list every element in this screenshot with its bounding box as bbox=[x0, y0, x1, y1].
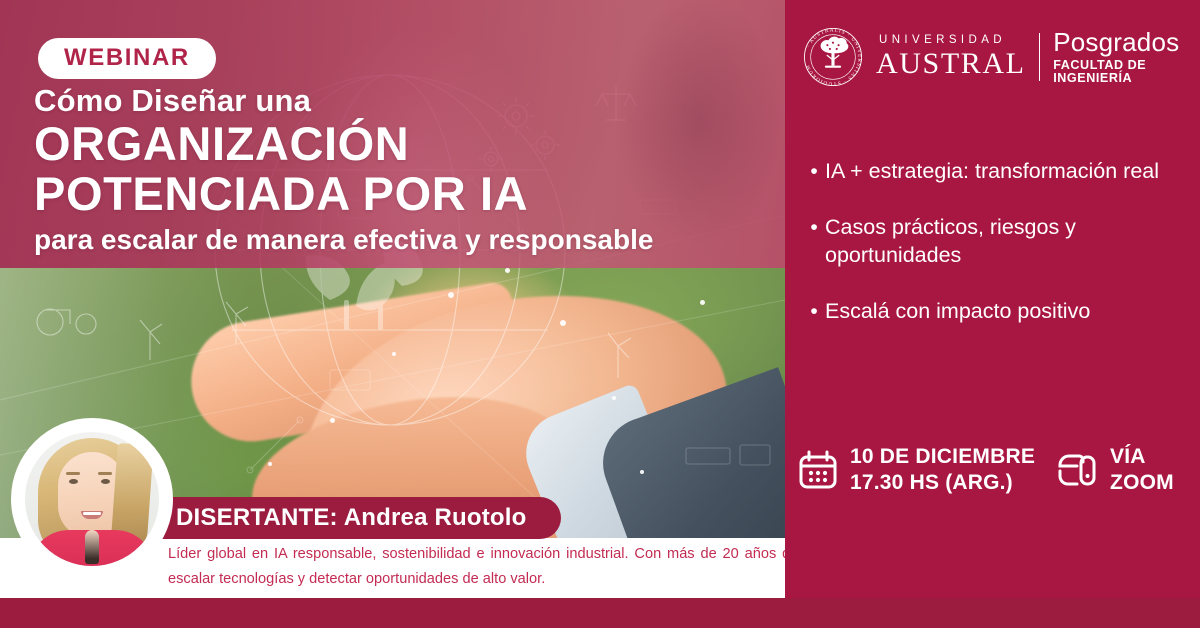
event-platform-lines: VÍA ZOOM bbox=[1110, 444, 1174, 495]
title-main-line-2: POTENCIADA POR IA bbox=[34, 169, 653, 220]
event-platform-via: VÍA bbox=[1110, 444, 1174, 470]
calendar-icon bbox=[797, 449, 839, 491]
title-block: Cómo Diseñar una ORGANIZACIÓN POTENCIADA… bbox=[34, 84, 653, 257]
logo-wordmark: UNIVERSIDAD AUSTRAL bbox=[876, 35, 1026, 80]
bullet-item: • Escalá con impacto positivo bbox=[803, 298, 1193, 326]
bottom-bar bbox=[0, 598, 1200, 628]
bullet-dot-icon: • bbox=[803, 214, 825, 270]
webinar-badge: WEBINAR bbox=[38, 38, 216, 79]
speaker-avatar-photo bbox=[25, 432, 159, 566]
austral-seal-icon: · AUSTRALIS · UNIVERSITAS · STUDIORUM bbox=[802, 26, 864, 88]
brand-sub: Posgrados FACULTAD DE INGENIERÍA bbox=[1053, 29, 1200, 84]
right-panel: · AUSTRALIS · UNIVERSITAS · STUDIORUM UN… bbox=[785, 0, 1200, 598]
speaker-ribbon: DISERTANTE: Andrea Ruotolo bbox=[150, 497, 561, 539]
webinar-promo-banner: WEBINAR Cómo Diseñar una ORGANIZACIÓN PO… bbox=[0, 0, 1200, 628]
sparkle bbox=[448, 292, 454, 298]
title-kicker: Cómo Diseñar una bbox=[34, 84, 653, 119]
sparkle bbox=[640, 470, 644, 474]
title-subtitle: para escalar de manera efectiva y respon… bbox=[34, 223, 653, 257]
bullet-text: IA + estrategia: transformación real bbox=[825, 158, 1193, 186]
university-logo: · AUSTRALIS · UNIVERSITAS · STUDIORUM UN… bbox=[802, 26, 1200, 88]
event-date-lines: 10 DE DICIEMBRE 17.30 HS (ARG.) bbox=[850, 444, 1035, 495]
title-main-line-1: ORGANIZACIÓN bbox=[34, 119, 653, 170]
logo-divider bbox=[1039, 33, 1041, 81]
bullet-text: Escalá con impacto positivo bbox=[825, 298, 1193, 326]
bullet-item: • IA + estrategia: transformación real bbox=[803, 158, 1193, 186]
speaker-ribbon-label: DISERTANTE: Andrea Ruotolo bbox=[176, 504, 527, 532]
avatar-clothing bbox=[29, 530, 155, 566]
avatar-brow-right bbox=[98, 472, 112, 475]
sparkle bbox=[330, 418, 335, 423]
event-time: 17.30 HS (ARG.) bbox=[850, 470, 1035, 496]
brand-facultad: FACULTAD DE INGENIERÍA bbox=[1053, 59, 1200, 84]
sparkle bbox=[560, 320, 566, 326]
sparkle bbox=[700, 300, 705, 305]
event-platform-name: ZOOM bbox=[1110, 470, 1174, 496]
brand-austral: AUSTRAL bbox=[876, 49, 1026, 79]
sparkle bbox=[268, 462, 272, 466]
brand-universidad: UNIVERSIDAD bbox=[876, 35, 1026, 47]
bullet-item: • Casos prácticos, riesgos y oportunidad… bbox=[803, 214, 1193, 270]
event-platform-item: VÍA ZOOM bbox=[1055, 444, 1174, 495]
event-date-item: 10 DE DICIEMBRE 17.30 HS (ARG.) bbox=[797, 444, 1035, 495]
bullet-list: • IA + estrategia: transformación real •… bbox=[803, 158, 1193, 354]
bullet-dot-icon: • bbox=[803, 298, 825, 326]
brand-posgrados: Posgrados bbox=[1053, 29, 1200, 55]
sparkle bbox=[392, 352, 396, 356]
bullet-text: Casos prácticos, riesgos y oportunidades bbox=[825, 214, 1193, 270]
event-info-row: 10 DE DICIEMBRE 17.30 HS (ARG.) VÍA ZOOM bbox=[797, 444, 1174, 495]
speaker-avatar bbox=[18, 425, 166, 573]
bullet-dot-icon: • bbox=[803, 158, 825, 186]
avatar-eye-right bbox=[101, 479, 110, 484]
sparkle bbox=[505, 268, 510, 273]
sparkle bbox=[612, 396, 616, 400]
event-date: 10 DE DICIEMBRE bbox=[850, 444, 1035, 470]
zoom-icon bbox=[1055, 449, 1099, 491]
